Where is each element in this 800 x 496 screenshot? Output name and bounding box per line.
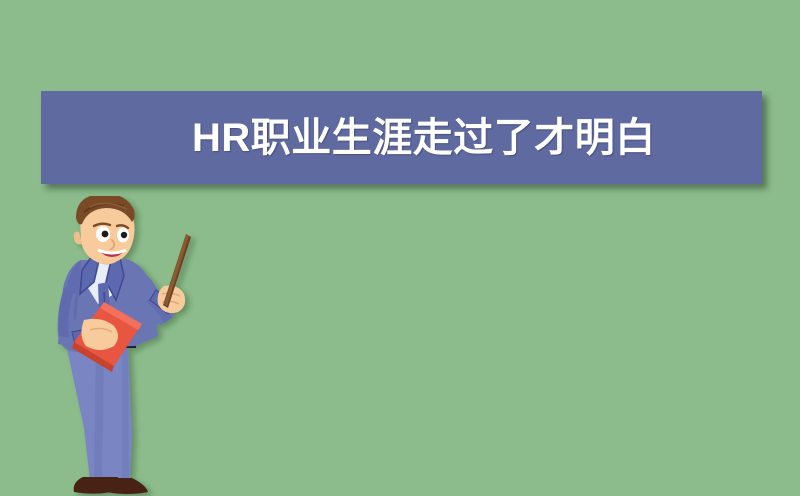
slide-canvas: HR职业生涯走过了才明白 xyxy=(0,0,800,496)
head xyxy=(74,196,135,264)
trousers xyxy=(66,344,132,482)
page-title: HR职业生涯走过了才明白 xyxy=(192,118,656,158)
businessman-body-group xyxy=(58,196,191,494)
title-banner: HR职业生涯走过了才明白 xyxy=(41,91,762,184)
shoes xyxy=(74,477,148,494)
businessman-figure xyxy=(28,196,218,496)
illustration-businessman xyxy=(28,196,218,496)
